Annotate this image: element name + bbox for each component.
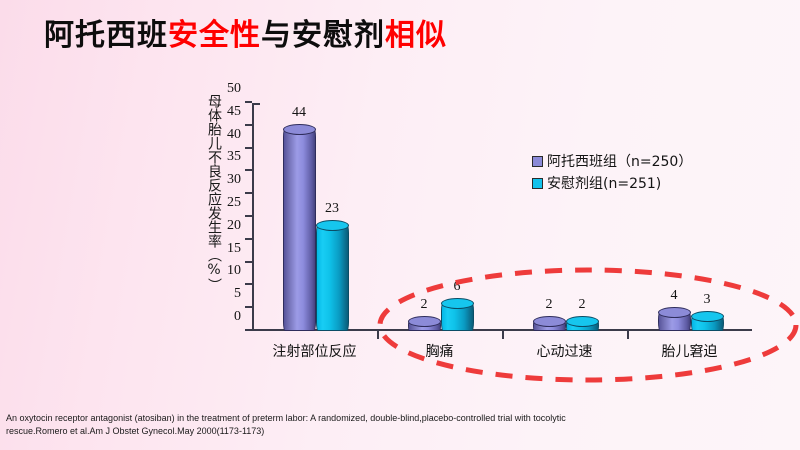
y-tick-mark <box>245 261 252 263</box>
bar-top-ellipse <box>316 220 349 231</box>
y-tick-mark <box>245 306 252 308</box>
y-tick-label: 25 <box>227 196 241 210</box>
bar-placebo[interactable]: 6 <box>441 302 474 331</box>
y-tick-label: 10 <box>227 264 241 278</box>
title-segment-4-highlight: 相似 <box>385 18 447 53</box>
x-axis-category-label: 心动过速 <box>537 341 593 361</box>
bar-value-label: 2 <box>579 297 586 313</box>
legend-label-atosiban: 阿托西班组（n=250） <box>547 151 692 171</box>
y-tick-label: 20 <box>227 219 241 233</box>
bar-top-ellipse <box>408 316 441 327</box>
y-axis-label: 母体胎儿不良反应发生率（%） <box>201 94 221 292</box>
y-tick-label: 0 <box>234 310 241 324</box>
y-tick-label: 15 <box>227 242 241 256</box>
bar-top-ellipse <box>533 316 566 327</box>
x-tick-mark <box>377 331 379 339</box>
x-axis-category-label: 胎儿窘迫 <box>662 341 718 361</box>
x-tick-mark <box>502 331 504 339</box>
bar-placebo[interactable]: 2 <box>566 320 599 331</box>
bar-value-label: 44 <box>292 105 306 121</box>
legend-item-placebo[interactable]: 安慰剂组(n=251) <box>532 172 692 194</box>
legend-item-atosiban[interactable]: 阿托西班组（n=250） <box>532 150 692 172</box>
y-tick-label: 40 <box>227 128 241 142</box>
bar-value-label: 6 <box>454 279 461 295</box>
bar-chart: 母体胎儿不良反应发生率（%） 05101520253035404550 4423… <box>196 92 776 354</box>
y-tick-mark <box>245 192 252 194</box>
bar-atosiban[interactable]: 4 <box>658 311 691 331</box>
bar-group: 4423注射部位反应 <box>280 103 350 331</box>
y-tick-mark <box>245 215 252 217</box>
bar-placebo[interactable]: 23 <box>316 224 349 331</box>
bar-atosiban[interactable]: 44 <box>283 128 316 331</box>
bar-value-label: 2 <box>421 297 428 313</box>
bar-value-label: 2 <box>546 297 553 313</box>
bar-group: 43胎儿窘迫 <box>655 103 725 331</box>
bar-top-ellipse <box>691 311 724 322</box>
x-tick-mark <box>627 331 629 339</box>
legend-swatch-icon-atosiban <box>532 156 543 167</box>
legend-swatch-icon-placebo <box>532 178 543 189</box>
y-axis-top-cap <box>252 103 260 105</box>
title-segment-2-highlight: 安全性 <box>168 18 261 53</box>
y-tick-mark <box>245 101 252 103</box>
title-segment-3: 与安慰剂 <box>261 18 385 53</box>
bar-atosiban[interactable]: 2 <box>533 320 566 331</box>
bar-value-label: 4 <box>671 288 678 304</box>
bar-atosiban[interactable]: 2 <box>408 320 441 331</box>
y-axis-line <box>252 103 254 331</box>
plot-area: 05101520253035404550 4423注射部位反应26胸痛22心动过… <box>252 103 752 331</box>
bar-group: 22心动过速 <box>530 103 600 331</box>
y-tick-label: 5 <box>234 287 241 301</box>
y-tick-label: 35 <box>227 150 241 164</box>
chart-legend: 阿托西班组（n=250） 安慰剂组(n=251) <box>532 150 692 194</box>
bar-top-ellipse <box>441 298 474 309</box>
y-tick-mark <box>245 329 252 331</box>
bar-value-label: 3 <box>704 292 711 308</box>
y-tick-label: 45 <box>227 105 241 119</box>
title-segment-1: 阿托西班 <box>44 18 168 53</box>
y-tick-mark <box>245 124 252 126</box>
bar-placebo[interactable]: 3 <box>691 315 724 331</box>
y-tick-mark <box>245 147 252 149</box>
y-tick-label: 50 <box>227 82 241 96</box>
y-tick-mark <box>245 169 252 171</box>
bar-top-ellipse <box>566 316 599 327</box>
page-title: 阿托西班安全性与安慰剂相似 <box>44 10 447 54</box>
bar-group: 26胸痛 <box>405 103 475 331</box>
bar-top-ellipse <box>283 124 316 135</box>
footnote-line-2: rescue.Romero et al.Am J Obstet Gynecol.… <box>6 425 606 438</box>
bar-value-label: 23 <box>325 201 339 217</box>
y-tick-mark <box>245 238 252 240</box>
x-axis-category-label: 注射部位反应 <box>273 341 357 361</box>
slide-canvas: 阿托西班安全性与安慰剂相似 母体胎儿不良反应发生率（%） 05101520253… <box>0 0 800 450</box>
y-tick-label: 30 <box>227 173 241 187</box>
x-axis-category-label: 胸痛 <box>426 341 454 361</box>
bar-top-ellipse <box>658 307 691 318</box>
y-tick-mark <box>245 283 252 285</box>
footnote-line-1: An oxytocin receptor antagonist (atosiba… <box>6 412 606 425</box>
legend-label-placebo: 安慰剂组(n=251) <box>547 173 661 193</box>
footnote-citation: An oxytocin receptor antagonist (atosiba… <box>6 412 606 438</box>
